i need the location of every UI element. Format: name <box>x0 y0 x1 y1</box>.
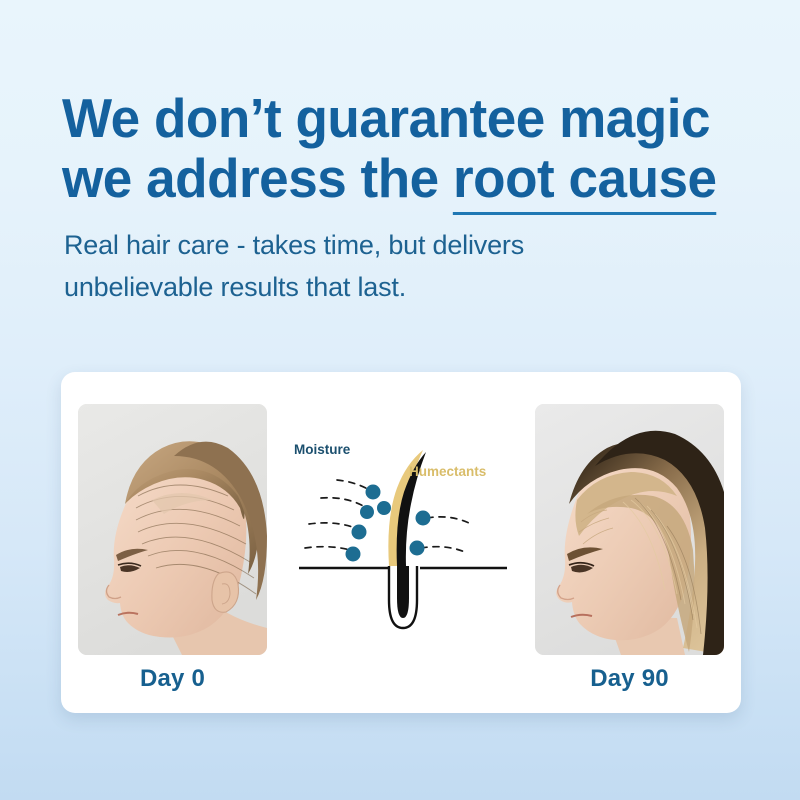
card-content: Moisture Humectants <box>61 372 741 713</box>
before-photo <box>78 404 267 655</box>
headline-emphasis-root-cause: root cause <box>453 147 717 215</box>
humectant-dots <box>410 511 431 556</box>
follicle-diagram: Moisture Humectants <box>285 432 517 642</box>
before-after-card: Moisture Humectants <box>61 372 741 713</box>
before-photo-illustration <box>78 404 267 655</box>
headline-line-2-prefix: we address the <box>62 147 453 209</box>
page-subtitle: Real hair care - takes time, but deliver… <box>64 224 664 308</box>
headline-line-1: We don’t guarantee magic <box>62 88 738 148</box>
after-caption: Day 90 <box>535 665 724 693</box>
moisture-dots <box>346 485 392 562</box>
moisture-label: Moisture <box>294 442 350 457</box>
humectants-label: Humectants <box>409 464 486 479</box>
headline-line-2: we address the root cause <box>62 148 738 208</box>
page-title: We don’t guarantee magic we address the … <box>62 88 738 208</box>
poster-canvas: We don’t guarantee magic we address the … <box>0 0 800 800</box>
after-photo <box>535 404 724 655</box>
after-photo-illustration <box>535 404 724 655</box>
subtitle-line-1: Real hair care - takes time, but deliver… <box>64 224 664 266</box>
before-caption: Day 0 <box>78 665 267 693</box>
follicle-bulb <box>397 566 409 618</box>
subtitle-line-2: unbelievable results that last. <box>64 266 664 308</box>
